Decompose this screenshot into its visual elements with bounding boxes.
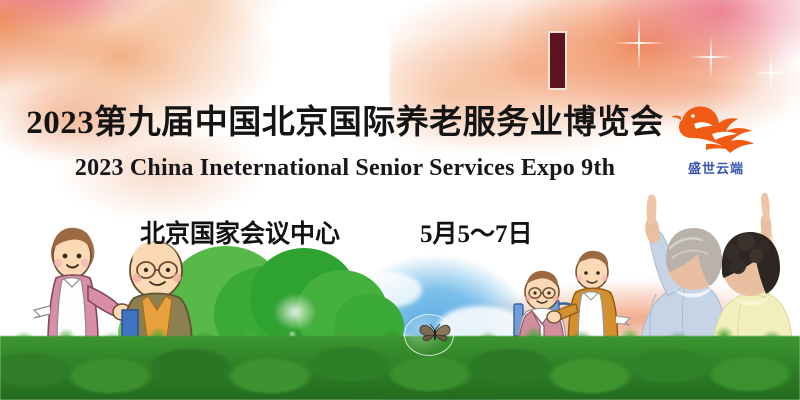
hedge-band [0, 336, 800, 400]
phoenix-bird-icon [668, 100, 764, 158]
page-title-english: 2023 China Ineternational Senior Service… [0, 155, 690, 182]
logo-text: 盛世云端 [668, 158, 764, 177]
sparkle-star-icon [754, 56, 788, 90]
expo-banner: 2023第九届中国北京国际养老服务业博览会 2023 China Inetern… [0, 0, 800, 400]
sparkle-star-icon [690, 36, 732, 78]
brand-logo[interactable]: 盛世云端 [668, 100, 764, 184]
butterfly-icon [418, 321, 452, 345]
maroon-marker-bar [548, 31, 567, 90]
page-title-chinese: 2023第九届中国北京国际养老服务业博览会 [0, 95, 690, 143]
scenery-band [0, 170, 800, 400]
sparkle-star-icon [612, 16, 666, 70]
venue-label: 北京国家会议中心 [140, 214, 340, 250]
dates-label: 5月5～7日 [420, 214, 533, 250]
